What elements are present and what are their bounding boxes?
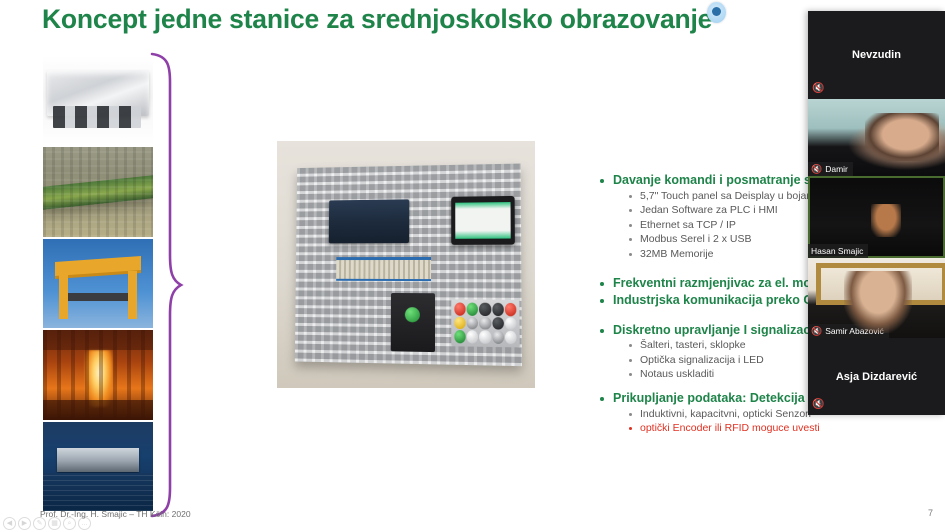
bullet-dot-icon [600,329,604,333]
bullet-text: Ethernet sa TCP / IP [640,219,736,231]
operator-control-panel [451,299,519,347]
cnc-machine-photo [43,56,153,145]
bullet-text: Davanje komandi i posmatranje sa [613,173,818,187]
bullet-dot-icon [600,397,604,401]
muted-icon: 🔇 [812,83,824,94]
red-indicator-lamp [454,302,465,315]
rotary-knob [467,317,479,330]
zoom-slide-button[interactable]: ⌕ [63,517,76,530]
gantry-crane-photo [43,239,153,328]
bullet-dot-icon [600,179,604,183]
participant-name: Hasan Smajic [811,246,863,256]
video-tile-asja-dizdarevic[interactable]: Asja Dizdarević 🔇 [808,338,945,415]
steel-mill-photo [43,330,153,419]
muted-icon: 🔇 [811,165,822,174]
bullet-text: Šalteri, tasteri, sklopke [640,339,746,351]
bullet-dot-icon [629,209,632,212]
terminal-block-row [336,257,431,281]
offshore-platform-photo [43,422,153,511]
green-indicator-lamp [467,303,479,316]
bullet-text: 5,7" Touch panel sa Deisplay u bojama [640,190,821,202]
participant-name-badge: 🔇 Damir [808,162,853,176]
black-selector-switch [492,317,504,330]
bullet-text: Optička signalizacija i LED [640,354,764,366]
bullet-dot-icon [629,427,632,430]
green-push-button [454,330,465,343]
video-tile-damir[interactable]: 🔇 Damir [808,99,945,176]
bullet-text: Jedan Software za PLC i HMI [640,204,778,216]
rotary-knob [479,317,491,330]
bullet-dot-icon [629,224,632,227]
participant-name: Samir Abazović [825,326,884,336]
industry-photo-strip [43,56,153,511]
green-push-button [405,307,420,322]
plc-cpu-module [329,199,409,243]
bullet-dot-icon [629,413,632,416]
bullet-dot-icon [629,238,632,241]
presentation-slide: Koncept jedne stanice za srednjoskolsko … [0,0,945,532]
bullet-dot-icon [600,299,604,303]
white-push-button [479,331,491,344]
zoom-video-panel[interactable]: Nevzudin 🔇 🔇 Damir Hasan Smajic 🔇 Samir … [808,11,945,415]
bullet-text: Frekventni razmjenjivac za el. mot [613,276,815,290]
emergency-stop-button [505,303,517,316]
bullet-text: Modbus Serel i 2 x USB [640,233,751,245]
bullet-text: Industrjska komunikacija preko CA [613,293,821,307]
frequency-converter-module [391,293,435,352]
video-tile-samir-abazovic[interactable]: 🔇 Samir Abazović [808,258,945,338]
rotary-knob [492,331,504,344]
participant-name-badge: Hasan Smajic [808,244,868,258]
participant-name-badge: 🔇 Samir Abazović [808,324,889,338]
bullet-text: Induktivni, kapacitvni, opticki Senzori [640,408,811,420]
black-selector-switch [479,303,491,316]
bullet-dot-icon [629,253,632,256]
bullet-text: Diskretno upravljanje I signalizac [613,323,810,337]
white-push-button [505,331,517,344]
pen-tool-button[interactable]: ✎ [33,517,46,530]
slide-title: Koncept jedne stanice za srednjoskolsko … [42,4,712,35]
bullet-text: Notaus uskladiti [640,368,714,380]
bullet-dot-icon [629,373,632,376]
bullet-dot-icon [600,282,604,286]
bullet-text: Prikupljanje podataka: Detekcija [613,391,805,405]
muted-icon: 🔇 [812,399,824,410]
participant-name: Nevzudin [808,49,945,61]
purple-brace-graphic [148,50,184,520]
more-options-button[interactable]: … [78,517,91,530]
next-slide-button[interactable]: ▶ [18,517,31,530]
video-tile-nevzudin[interactable]: Nevzudin 🔇 [808,11,945,99]
white-push-button [505,317,517,330]
laser-pointer-cursor-icon [707,2,726,23]
white-push-button [467,330,479,343]
hmi-screen [455,202,510,239]
plc-training-panel-photo [277,141,535,388]
participant-name: Asja Dizdarević [808,371,945,383]
video-tile-hasan-smajic[interactable]: Hasan Smajic [808,176,945,258]
bullet-text: 32MB Memorije [640,248,714,260]
bullet-level2-highlight: optički Encoder ili RFID moguce uvesti [629,422,900,434]
bullet-dot-icon [629,195,632,198]
participant-name: Damir [825,164,848,174]
page-number: 7 [928,508,933,518]
perforated-mounting-board [295,164,522,367]
hmi-touch-panel [451,196,515,245]
yellow-indicator-lamp [454,316,465,329]
bullet-dot-icon [629,359,632,362]
black-selector-switch [492,303,504,316]
muted-icon: 🔇 [811,327,822,336]
all-slides-button[interactable]: ▦ [48,517,61,530]
previous-slide-button[interactable]: ◀ [3,517,16,530]
presenter-controls-toolbar[interactable]: ◀ ▶ ✎ ▦ ⌕ … [3,517,91,530]
factory-conveyor-photo [43,147,153,236]
bullet-dot-icon [629,344,632,347]
bullet-text: optički Encoder ili RFID moguce uvesti [640,422,820,434]
